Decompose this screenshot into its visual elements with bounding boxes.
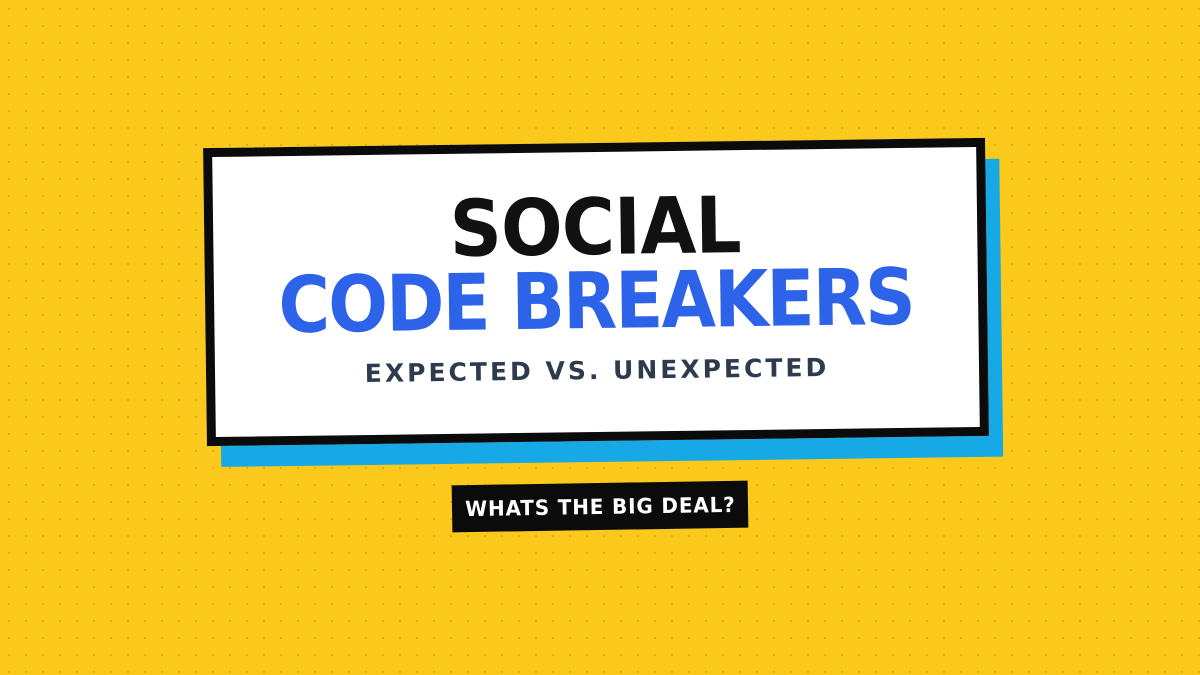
- headline-line-2: CODE BREAKERS: [252, 262, 940, 343]
- title-card-group: SOCIAL CODE BREAKERS EXPECTED VS. UNEXPE…: [205, 143, 987, 441]
- subtitle: EXPECTED VS. UNEXPECTED: [215, 351, 979, 390]
- tagline-badge: WHATS THE BIG DEAL?: [452, 481, 749, 533]
- tagline-badge-label: WHATS THE BIG DEAL?: [465, 492, 736, 520]
- title-card-content: SOCIAL CODE BREAKERS EXPECTED VS. UNEXPE…: [213, 188, 980, 396]
- title-card: SOCIAL CODE BREAKERS EXPECTED VS. UNEXPE…: [203, 138, 989, 446]
- title-slide: SOCIAL CODE BREAKERS EXPECTED VS. UNEXPE…: [0, 0, 1200, 675]
